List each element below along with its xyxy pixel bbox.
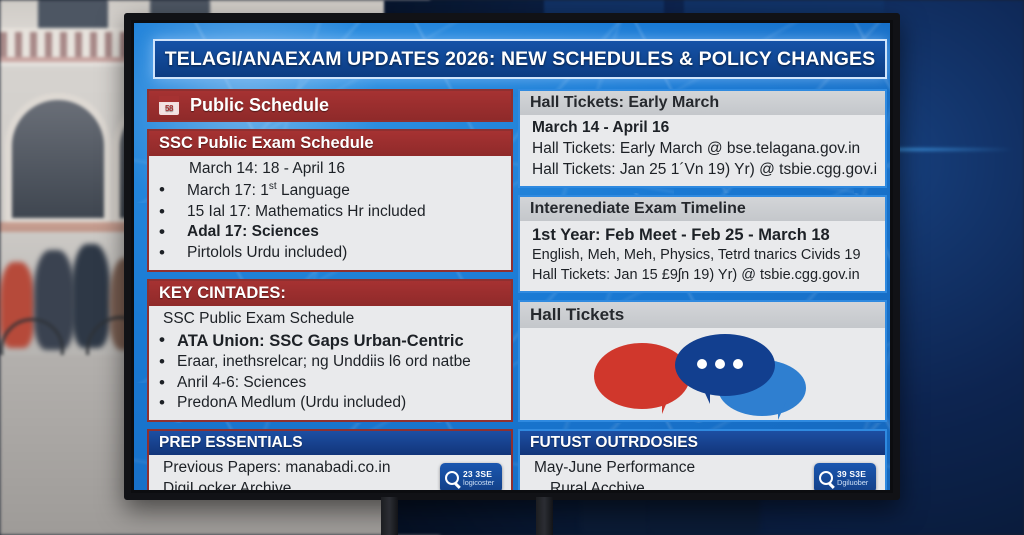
calendar-icon: 58 (159, 96, 179, 115)
prep-essentials-header: PREP ESSENTIALS (149, 431, 511, 455)
intermediate-timeline-header: Interenediate Exam Timeline (520, 197, 885, 221)
key-updates-subtitle: SSC Public Exam Schedule (157, 309, 503, 330)
page-title-text: TELAGI/ANAEXAM UPDATES 2026: NEW SCHEDUL… (165, 48, 876, 71)
magnifier-icon (445, 471, 459, 485)
building-window (38, 0, 108, 30)
future-outcomes-card[interactable]: FUTUST OUTRDOSIES May-June Performance R… (518, 429, 887, 490)
dark-blue-speech-bubble-tail (693, 380, 710, 404)
list-item: Eraar, inethsrelcar; ng Unddiis l6 ord n… (157, 352, 503, 373)
prep-essentials-card[interactable]: PREP ESSENTIALS Previous Papers: manabad… (147, 429, 513, 490)
key-updates-header: KEY CINTADES: (149, 281, 511, 306)
list-item: March 17: 1st Language (157, 180, 503, 202)
badge-text: 23 3SE logicoster (463, 470, 494, 487)
list-item: Pirtolols Urdu included) (157, 243, 503, 264)
badge-line-2: Dgiluober (837, 479, 868, 487)
billboard-leg-right (536, 497, 553, 535)
hall-tickets-march-header: Hall Tickets: Early March (520, 91, 885, 115)
list-item: 1st Year: Feb Meet - Feb 25 - March 18 (528, 224, 877, 246)
hall-tickets-graphic-card[interactable]: Hall Tickets (518, 300, 887, 422)
hall-tickets-march-card[interactable]: Hall Tickets: Early March March 14 - Apr… (518, 89, 887, 188)
list-item: Hall Tickets: Jan 15 £9ʃn 19) Yr) @ tsbi… (528, 266, 877, 285)
intermediate-timeline-card[interactable]: Interenediate Exam Timeline 1st Year: Fe… (518, 195, 887, 293)
list-item: 15 Ial 17: Mathematics Hr included (157, 202, 503, 223)
page-title: TELAGI/ANAEXAM UPDATES 2026: NEW SCHEDUL… (153, 39, 887, 79)
hall-tickets-graphic-header: Hall Tickets (520, 302, 885, 328)
ssc-schedule-body: March 14: 18 - April 16 March 17: 1st La… (149, 156, 511, 270)
ssc-schedule-header: SSC Public Exam Schedule (149, 131, 511, 156)
public-schedule-header: 58 Public Schedule (149, 91, 511, 120)
list-item: ATA Union: SSC Gaps Urban-Centric (157, 330, 503, 352)
red-speech-bubble-tail (662, 390, 678, 414)
key-updates-card[interactable]: KEY CINTADES: SSC Public Exam Schedule A… (147, 279, 513, 422)
digilocker-badge[interactable]: 39 S3E Dgiluober (814, 463, 876, 490)
building-arch (12, 100, 104, 218)
list-item: Hall Tickets: Jan 25 1´Vn 19) Yr) @ tsbi… (528, 160, 877, 181)
badge-text: 39 S3E Dgiluober (837, 470, 868, 487)
magnifier-icon (819, 471, 833, 485)
list-item: March 14: 18 - April 16 (157, 159, 503, 180)
public-schedule-card[interactable]: 58 Public Schedule (147, 89, 513, 122)
billboard-face: TELAGI/ANAEXAM UPDATES 2026: NEW SCHEDUL… (134, 23, 890, 490)
list-item: Adal 17: Sciences (157, 222, 503, 243)
list-item: Anril 4-6: Sciences (157, 373, 503, 394)
key-updates-body: SSC Public Exam Schedule ATA Union: SSC … (149, 306, 511, 420)
intermediate-timeline-body: 1st Year: Feb Meet - Feb 25 - March 18 E… (520, 221, 885, 291)
right-column: Hall Tickets: Early March March 14 - Apr… (518, 89, 887, 490)
light-blue-speech-bubble-tail (778, 400, 793, 420)
left-column: 58 Public Schedule SSC Public Exam Sched… (147, 89, 513, 490)
typing-dots-icon (697, 359, 743, 369)
list-item: Hall Tickets: Early March @ bse.telagana… (528, 139, 877, 160)
list-item: March 14 - April 16 (528, 118, 877, 139)
billboard: TELAGI/ANAEXAM UPDATES 2026: NEW SCHEDUL… (124, 13, 900, 500)
future-outcomes-header: FUTUST OUTRDOSIES (520, 431, 885, 455)
ssc-schedule-card[interactable]: SSC Public Exam Schedule March 14: 18 - … (147, 129, 513, 272)
badge-line-2: logicoster (463, 479, 494, 487)
list-item: PredonA Medlum (Urdu included) (157, 393, 503, 414)
public-schedule-title: Public Schedule (190, 95, 329, 116)
billboard-leg-left (381, 497, 398, 535)
digilocker-badge[interactable]: 23 3SE logicoster (440, 463, 502, 490)
speech-bubbles-graphic (520, 328, 885, 420)
list-item: English, Meh, Meh, Physics, Tetrd tnaric… (528, 246, 877, 265)
hall-tickets-march-body: March 14 - April 16 Hall Tickets: Early … (520, 115, 885, 186)
